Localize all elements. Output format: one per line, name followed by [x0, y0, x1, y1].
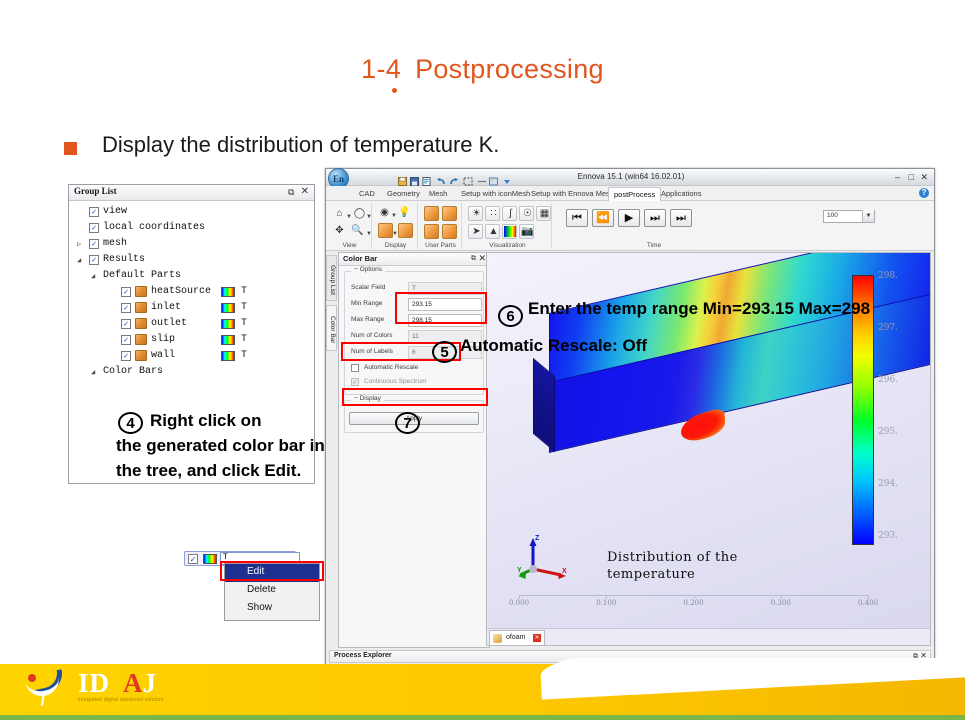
brand-letter-j: J [143, 668, 157, 698]
page-title-number: 1-4 [361, 54, 401, 84]
min-range-label: Min Range [351, 300, 382, 307]
tree-item-outlet[interactable]: ✓outletT [69, 317, 314, 333]
scalar-tag-label: T [241, 334, 247, 345]
automatic-rescale-checkbox[interactable] [351, 364, 359, 372]
group-list-titlebar: Group List ⧉ ✕ [69, 185, 314, 201]
options-group-legend: − Options [351, 266, 385, 273]
play-button[interactable]: ▶ [618, 209, 640, 227]
dock-tab-color-bar[interactable]: Color Bar [326, 305, 337, 351]
rotate-view-icon[interactable]: ◯ [352, 207, 367, 222]
display-legend-text: Display [360, 395, 381, 402]
viewport-title-line2: temperature [607, 566, 827, 583]
tree-item-label: heatSource [151, 286, 211, 297]
ribbon-group-label-visualization: Visualization [464, 242, 551, 249]
tree-item-label: inlet [151, 302, 181, 313]
step-marker-5: 5 [432, 341, 457, 363]
brand-letter-a: A [123, 668, 143, 698]
continuous-spectrum-checkbox[interactable]: ✓ [351, 378, 359, 386]
color-bar-panel: Color Bar ⧉ ✕ − Options Scalar Field T M… [338, 252, 490, 648]
graph-icon[interactable]: ▲ [485, 224, 500, 239]
field-row-scalar-field: Scalar Field T [348, 282, 480, 296]
color-bar-legend-label: 295. [878, 427, 908, 437]
brand-name-aj: AJ [123, 668, 156, 699]
part-cube-icon [135, 334, 147, 345]
checkbox-local-coordinates[interactable]: ✓ [89, 223, 99, 233]
tab-setup-with-ennova-mesh[interactable]: Setup with Ennova Mesh [526, 187, 619, 201]
scalar-tag-label: T [241, 302, 247, 313]
checkbox-outlet[interactable]: ✓ [121, 319, 131, 329]
ruler-label: 0.300 [771, 599, 791, 607]
checkbox-slip[interactable]: ✓ [121, 335, 131, 345]
viewport-tab-ofoam[interactable]: ofoam ✕ [489, 630, 545, 645]
tab-geometry[interactable]: Geometry [382, 187, 425, 201]
colorbar-checkbox[interactable]: ✓ [188, 554, 198, 564]
color-bar-legend-label: 293. [878, 531, 908, 541]
ribbon-group-label-time: Time [554, 242, 754, 249]
ruler-label: 0.000 [509, 599, 529, 607]
vector-icon[interactable]: ➤ [468, 224, 483, 239]
bullet-row: Display the distribution of temperature … [64, 132, 764, 164]
user-part-cube-icon-1[interactable] [424, 206, 439, 221]
options-legend-text: Options [360, 266, 382, 273]
float-icon[interactable]: ⧉ [288, 188, 296, 196]
axis-triad: Z X Y [517, 535, 569, 583]
part-cube-icon [135, 350, 147, 361]
viewport-title-line1: Distribution of the [607, 549, 827, 566]
tree-item-label: local coordinates [103, 222, 205, 233]
tree-item-label: mesh [103, 238, 127, 249]
ribbon-group-visualization: ☀ ∷ ∫ ☉ ▦ ➤ ▲ 📷 Visualization [464, 203, 552, 249]
step-4-annotation-text: Right click onthe generated color bar in… [116, 408, 328, 483]
color-bar-legend-label: 298. [878, 271, 908, 281]
tab-postprocess[interactable]: postProcess [608, 187, 661, 201]
tree-item-mesh[interactable]: ▷✓mesh [69, 237, 314, 253]
shaded-cube-icon[interactable] [378, 223, 393, 238]
scalar-tag-label: T [241, 318, 247, 329]
float-icon[interactable]: ⧉ [471, 255, 476, 263]
num-of-colors-label: Num of Colors [351, 332, 393, 339]
display-group-legend: − Display [351, 395, 384, 402]
tree-item-slip[interactable]: ✓slipT [69, 333, 314, 349]
tab-setup-with-iconmesh[interactable]: Setup with iconMesh [456, 187, 535, 201]
scalar-field-value: T [408, 282, 482, 295]
isosurface-icon[interactable]: ☉ [519, 206, 534, 221]
checkbox-wall[interactable]: ✓ [121, 351, 131, 361]
step-back-button[interactable]: ⏪ [592, 209, 614, 227]
color-bar-legend-label: 296. [878, 375, 908, 385]
wireframe-cube-icon[interactable] [398, 223, 413, 238]
tree-item-wall[interactable]: ✓wallT [69, 349, 314, 365]
tree-item-label: Color Bars [103, 366, 163, 377]
step-marker-7: 7 [395, 412, 420, 434]
time-step-value: 100 [827, 212, 838, 219]
tree-item-color-bars[interactable]: ◢Color Bars [69, 365, 314, 381]
tree-item-label: wall [151, 350, 175, 361]
color-bar-swatch-icon [203, 554, 217, 564]
ribbon-tabbar: CAD Geometry Mesh Setup with iconMesh Se… [326, 186, 934, 201]
tree-item-label: Results [103, 254, 145, 265]
max-range-input[interactable]: 298.15 [408, 314, 482, 327]
viewport-ruler: 0.000 0.100 0.200 0.300 0.400 [519, 595, 868, 609]
last-frame-button[interactable]: ⏭ [670, 209, 692, 227]
ribbon-group-label-display: Display [374, 242, 417, 249]
particles-icon[interactable]: ∷ [485, 206, 500, 221]
ribbon-group-view: ⌂ ▼ ◯ ▼ ✥ 🔍 ▼ View [328, 203, 372, 249]
tab-applications[interactable]: Applications [656, 187, 706, 201]
color-bar-panel-title: Color Bar [343, 254, 377, 263]
ruler-label: 0.200 [683, 599, 703, 607]
field-row-min-range: Min Range 293.15 [348, 298, 480, 312]
expander-open-icon[interactable]: ◢ [77, 256, 81, 265]
color-bar-legend-label: 294. [878, 479, 908, 489]
continuous-spectrum-label: Continuous Spectrum [364, 378, 427, 385]
color-bar-swatch-icon [221, 351, 235, 361]
expander-closed-icon[interactable]: ▷ [77, 240, 81, 249]
logo-stem [41, 692, 45, 706]
part-cube-icon [135, 286, 147, 297]
chevron-down-icon[interactable]: ▼ [862, 210, 874, 222]
edit-highlight-box [220, 561, 324, 581]
step-marker-6: 6 [498, 305, 523, 327]
color-bar-titlebar: Color Bar ⧉ ✕ [339, 253, 489, 266]
tree-item-label: outlet [151, 318, 187, 329]
close-button[interactable]: ✕ [920, 172, 928, 183]
checkbox-heatsource[interactable]: ✓ [121, 287, 131, 297]
collapse-icon[interactable]: − [354, 395, 358, 402]
ruler-label: 0.400 [858, 599, 878, 607]
page-title: 1-4Postprocessing [0, 54, 965, 85]
checkbox-mesh[interactable]: ✓ [89, 239, 99, 249]
help-icon[interactable]: ? [919, 188, 929, 198]
context-menu-item-delete[interactable]: Delete [225, 582, 319, 600]
tab-cad[interactable]: CAD [354, 187, 380, 201]
color-bar-legend-label: 297. [878, 323, 908, 333]
clip-plane-icon[interactable]: ▦ [536, 206, 551, 221]
brand-tagline: integrated digital advanced solution [78, 697, 164, 703]
tab-mesh[interactable]: Mesh [424, 187, 452, 201]
logo-dot-red [28, 674, 36, 682]
camera-snapshot-icon[interactable]: 📷 [519, 224, 534, 239]
step-4-rest: the generated color bar in the tree, and… [116, 436, 325, 480]
checkbox-inlet[interactable]: ✓ [121, 303, 131, 313]
viewport-tabbar: ofoam ✕ [487, 628, 930, 645]
color-bar-swatch-icon [221, 287, 235, 297]
title-dot-decoration [392, 88, 397, 93]
time-step-combobox[interactable]: 100 ▼ [823, 210, 875, 223]
bullet-square-icon [64, 142, 77, 155]
scalar-tag-label: T [241, 286, 247, 297]
color-bar-swatch-icon [221, 319, 235, 329]
checkbox-row-continuous-spectrum: ✓ Continuous Spectrum [351, 376, 480, 389]
chevron-down-icon[interactable]: ▼ [366, 231, 372, 237]
ribbon: ⌂ ▼ ◯ ▼ ✥ 🔍 ▼ View ◉ ▼ 💡 ▼ Display User … [326, 201, 934, 251]
ribbon-group-label-view: View [328, 242, 371, 249]
close-icon[interactable]: ✕ [478, 253, 486, 264]
tree-item-results[interactable]: ◢✓Results [69, 253, 314, 269]
close-icon[interactable]: ✕ [533, 634, 541, 642]
axis-label-y: Y [517, 567, 522, 574]
tree-item-label: view [103, 206, 127, 217]
step-4-line1: Right click on [116, 408, 328, 433]
ribbon-group-display: ◉ ▼ 💡 ▼ Display [374, 203, 418, 249]
zoom-view-icon[interactable]: 🔍 [350, 224, 365, 239]
num-of-labels-label: Num of Labels [351, 348, 393, 355]
app-titlebar: En Ennova 15.1 (win64 16.02.01) – □ [326, 169, 934, 186]
maximize-button[interactable]: □ [909, 172, 914, 182]
dock-tab-group-list[interactable]: Group List [326, 255, 337, 301]
tree-item-local-coordinates[interactable]: ✓local coordinates [69, 221, 314, 237]
scalar-tag-label: T [241, 350, 247, 361]
first-frame-button[interactable]: ⏮ [566, 209, 588, 227]
scalar-field-label: Scalar Field [351, 284, 385, 291]
checkbox-row-automatic-rescale: Automatic Rescale [351, 362, 480, 375]
color-bar-icon[interactable] [502, 224, 517, 239]
step-5-annotation-text: Automatic Rescale: Off [460, 336, 647, 356]
user-part-cube-icon-4[interactable] [442, 224, 457, 239]
tree-item-default-parts[interactable]: ◢Default Parts [69, 269, 314, 285]
ruler-label: 0.100 [596, 599, 616, 607]
color-bar-swatch-icon [221, 303, 235, 313]
viewport-title: Distribution of the temperature [607, 549, 827, 583]
tree-item-inlet[interactable]: ✓inletT [69, 301, 314, 317]
user-part-cube-icon-2[interactable] [442, 206, 457, 221]
step-forward-button[interactable]: ⏭ [644, 209, 666, 227]
home-view-icon[interactable]: ⌂ [332, 207, 347, 222]
color-bar-swatch-icon [221, 335, 235, 345]
ribbon-group-label-user-parts: User Parts [420, 242, 461, 249]
pan-view-icon[interactable]: ✥ [332, 224, 347, 239]
collapse-icon[interactable]: − [354, 266, 358, 273]
light-icon[interactable]: 💡 [397, 206, 412, 221]
globe-display-icon[interactable]: ◉ [377, 206, 392, 221]
brand-name-id: ID [78, 668, 110, 699]
part-cube-icon [135, 302, 147, 313]
options-group: − Options Scalar Field T Min Range 293.1… [344, 271, 484, 395]
tree-item-label: Default Parts [103, 270, 181, 281]
page-title-text: Postprocessing [415, 54, 604, 84]
bullet-text: Display the distribution of temperature … [102, 132, 499, 158]
idaj-logo: ID AJ integrated digital advanced soluti… [20, 666, 170, 708]
axis-label-x: X [562, 568, 567, 575]
close-icon[interactable]: ✕ [301, 186, 309, 197]
user-part-cube-icon-3[interactable] [424, 224, 439, 239]
axis-label-z: Z [535, 535, 539, 542]
expander-open-icon[interactable]: ◢ [91, 368, 95, 377]
chevron-down-icon[interactable]: ▼ [366, 214, 372, 220]
group-list-tree: ✓view✓local coordinates▷✓mesh◢✓Results◢D… [69, 201, 314, 381]
step-6-annotation-text: Enter the temp range Min=293.15 Max=298 [528, 299, 870, 319]
automatic-rescale-label: Automatic Rescale [364, 364, 418, 371]
footer-green-strip [0, 715, 965, 720]
ribbon-group-user-parts: User Parts [420, 203, 462, 249]
field-row-max-range: Max Range 298.15 [348, 314, 480, 328]
part-cube-icon [135, 318, 147, 329]
app-title: Ennova 15.1 (win64 16.02.01) [326, 172, 936, 181]
tree-item-heatsource[interactable]: ✓heatSourceT [69, 285, 314, 301]
min-range-input[interactable]: 293.15 [408, 298, 482, 311]
checkbox-results[interactable]: ✓ [89, 255, 99, 265]
expander-open-icon[interactable]: ◢ [91, 272, 95, 281]
tree-item-view[interactable]: ✓view [69, 205, 314, 221]
contour-icon[interactable]: ☀ [468, 206, 483, 221]
viewport-tab-label: ofoam [506, 634, 525, 641]
tree-item-label: slip [151, 334, 175, 345]
footer-band: ID AJ integrated digital advanced soluti… [0, 658, 965, 720]
case-icon [493, 634, 502, 643]
checkbox-view[interactable]: ✓ [89, 207, 99, 217]
group-list-title: Group List [74, 186, 117, 196]
minimize-button[interactable]: – [895, 172, 900, 182]
max-range-label: Max Range [351, 316, 384, 323]
streamline-icon[interactable]: ∫ [502, 206, 517, 221]
context-menu-item-show[interactable]: Show [225, 600, 319, 618]
